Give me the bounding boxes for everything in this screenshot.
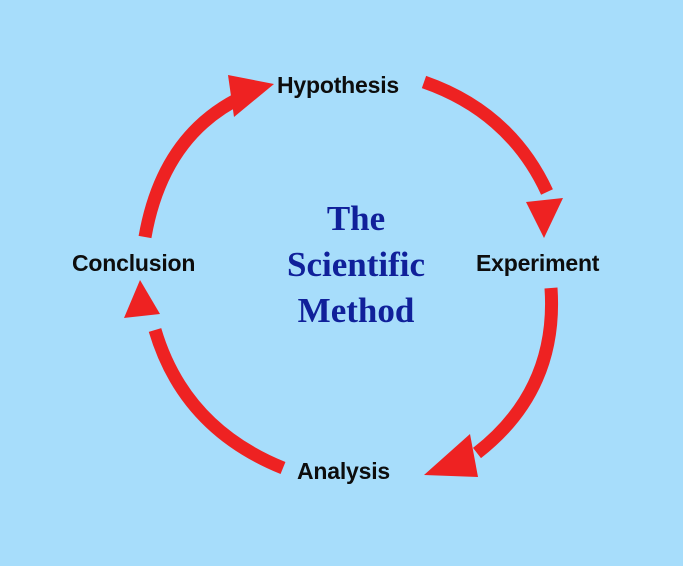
center-title: The Scientific Method (236, 196, 476, 334)
node-label-analysis: Analysis (297, 460, 390, 483)
center-title-line-1: The (236, 196, 476, 242)
center-title-line-3: Method (236, 288, 476, 334)
node-label-conclusion: Conclusion (72, 252, 195, 275)
node-label-experiment: Experiment (476, 252, 599, 275)
center-title-line-2: Scientific (236, 242, 476, 288)
scientific-method-diagram: Hypothesis Experiment Analysis Conclusio… (0, 0, 683, 566)
node-label-hypothesis: Hypothesis (277, 74, 399, 97)
